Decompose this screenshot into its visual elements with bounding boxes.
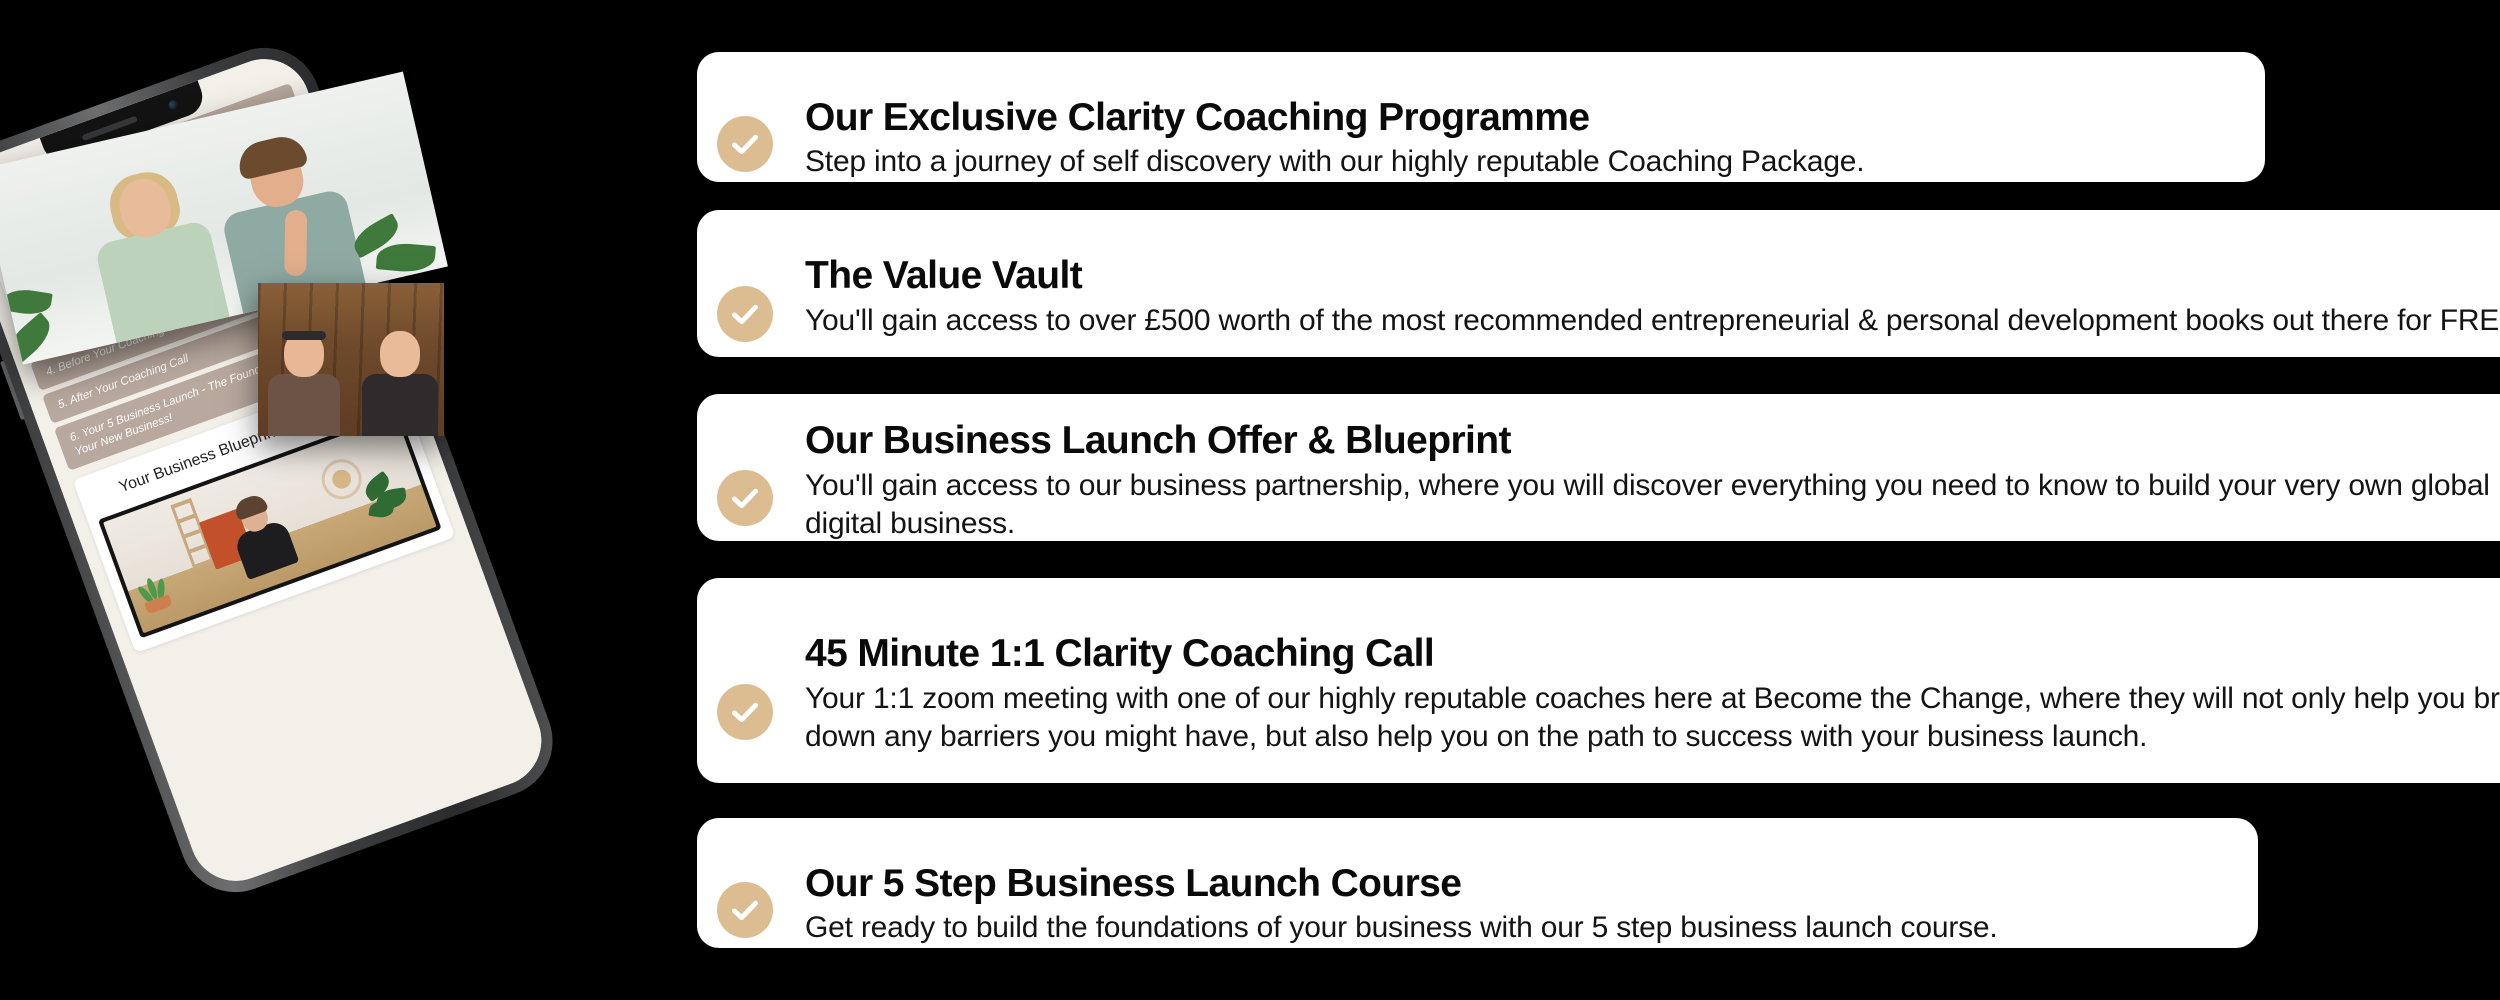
feature-card[interactable]: The Value Vault You'll gain access to ov… bbox=[697, 210, 2500, 357]
feature-card[interactable]: Our 5 Step Business Launch Course Get re… bbox=[697, 818, 2258, 948]
feature-card[interactable]: 45 Minute 1:1 Clarity Coaching Call Your… bbox=[697, 578, 2500, 783]
feature-title: Our 5 Step Business Launch Course bbox=[805, 862, 2218, 906]
promo-graphic: 3. Your Business Blueprint Introducing o… bbox=[0, 0, 2500, 1000]
feature-title: The Value Vault bbox=[805, 254, 2500, 298]
feature-title: Our Exclusive Clarity Coaching Programme bbox=[805, 96, 2225, 140]
feature-description: Get ready to build the foundations of yo… bbox=[805, 909, 2218, 948]
feature-card-list: Our Exclusive Clarity Coaching Programme… bbox=[0, 0, 2500, 1000]
feature-card[interactable]: Our Exclusive Clarity Coaching Programme… bbox=[697, 52, 2265, 182]
feature-description: Your 1:1 zoom meeting with one of our hi… bbox=[805, 680, 2500, 757]
feature-description: Step into a journey of self discovery wi… bbox=[805, 143, 2225, 182]
feature-description: You'll gain access to our business partn… bbox=[805, 467, 2500, 544]
feature-title: Our Business Launch Offer & Blueprint bbox=[805, 419, 2500, 463]
feature-description: You'll gain access to over £500 worth of… bbox=[805, 302, 2500, 341]
feature-title: 45 Minute 1:1 Clarity Coaching Call bbox=[805, 632, 2500, 676]
feature-card[interactable]: Our Business Launch Offer & Blueprint Yo… bbox=[697, 394, 2500, 541]
